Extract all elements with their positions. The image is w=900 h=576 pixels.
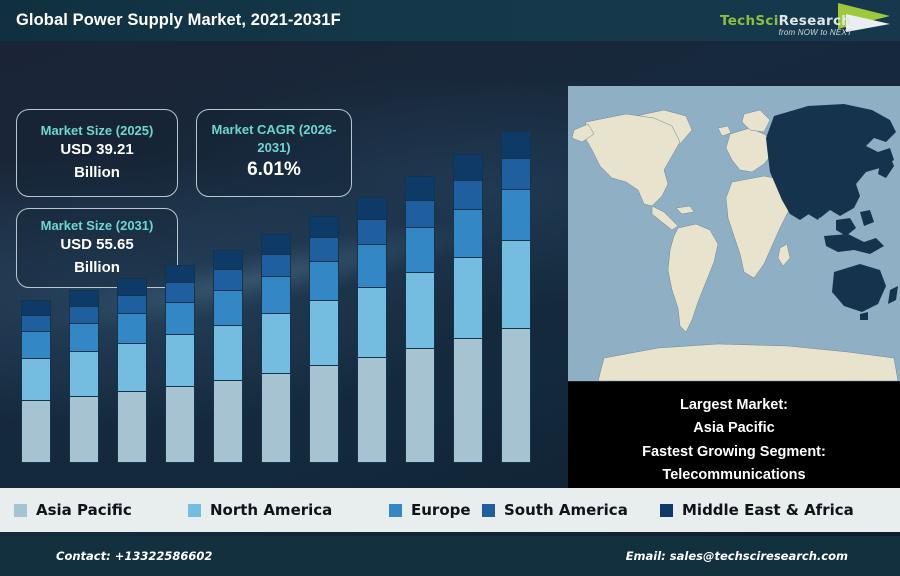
bar-segment-south-america xyxy=(261,254,291,276)
legend-item-north-america[interactable]: North America xyxy=(188,501,332,519)
bar-segment-south-america xyxy=(309,237,339,261)
bar-segment-north-america xyxy=(501,240,531,328)
bar-segment-asia-pacific xyxy=(309,365,339,463)
bar-segment-middle-east-africa xyxy=(453,154,483,180)
bar-segment-middle-east-africa xyxy=(165,265,195,283)
bar-segment-north-america xyxy=(69,351,99,396)
legend-swatch-icon xyxy=(660,504,673,517)
legend-label: Middle East & Africa xyxy=(682,501,854,519)
bar-segment-north-america xyxy=(21,358,51,401)
bar-segment-north-america xyxy=(213,325,243,380)
bar-segment-south-america xyxy=(21,315,51,331)
legend-swatch-icon xyxy=(188,504,201,517)
logo-text: TechSciResearch xyxy=(720,13,851,29)
bar-segment-middle-east-africa xyxy=(309,216,339,237)
bar-2023 xyxy=(117,278,147,463)
bar-2027F xyxy=(309,216,339,463)
legend-item-middle-east-africa[interactable]: Middle East & Africa xyxy=(660,501,854,519)
bar-segment-south-america xyxy=(165,282,195,302)
page-footer: Contact: +13322586602 Email: sales@techs… xyxy=(0,536,900,576)
bar-segment-north-america xyxy=(165,334,195,386)
bar-segment-north-america xyxy=(453,257,483,339)
bar-segment-europe xyxy=(405,227,435,272)
bar-segment-asia-pacific xyxy=(357,357,387,463)
bar-segment-middle-east-africa xyxy=(261,234,291,254)
bar-segment-asia-pacific xyxy=(213,380,243,463)
legend-label: Asia Pacific xyxy=(36,501,132,519)
world-map xyxy=(568,86,900,381)
bar-segment-south-america xyxy=(405,200,435,227)
bar-segment-asia-pacific xyxy=(261,373,291,463)
footer-contact: Contact: +13322586602 xyxy=(56,549,212,563)
market-highlights-box: Largest Market: Asia Pacific Fastest Gro… xyxy=(568,382,900,499)
bar-segment-north-america xyxy=(261,313,291,373)
bar-segment-middle-east-africa xyxy=(21,300,51,315)
legend-swatch-icon xyxy=(482,504,495,517)
bar-segment-europe xyxy=(165,302,195,334)
bar-2029F xyxy=(405,176,435,463)
legend-item-south-america[interactable]: South America xyxy=(482,501,628,519)
bar-segment-south-america xyxy=(117,295,147,313)
legend-label: North America xyxy=(210,501,332,519)
bar-segment-north-america xyxy=(405,272,435,348)
bar-segment-south-america xyxy=(453,180,483,209)
bar-2026E xyxy=(261,234,291,463)
logo-tagline: from NOW to NEXT xyxy=(779,28,852,37)
bar-segment-europe xyxy=(501,189,531,240)
bar-segment-europe xyxy=(309,261,339,300)
bar-segment-north-america xyxy=(309,300,339,365)
world-map-svg xyxy=(568,86,900,381)
bar-segment-middle-east-africa xyxy=(117,278,147,295)
bar-segment-europe xyxy=(453,209,483,257)
techsci-research-logo: TechSciResearch from NOW to NEXT xyxy=(714,2,892,40)
bar-segment-south-america xyxy=(69,306,99,323)
bar-segment-south-america xyxy=(501,158,531,188)
bar-segment-north-america xyxy=(357,287,387,357)
bar-segment-asia-pacific xyxy=(165,386,195,463)
infographic-body: Market Size (2025) USD 39.21 Billion Mar… xyxy=(0,41,900,536)
logo-text-research: Research xyxy=(779,13,852,29)
bar-2022 xyxy=(69,290,99,463)
bar-segment-south-america xyxy=(213,269,243,290)
fastest-segment-value: Telecommunications xyxy=(662,464,805,487)
footer-email: Email: sales@techsciresearch.com xyxy=(626,549,848,563)
largest-market-value: Asia Pacific xyxy=(693,417,774,440)
bar-segment-middle-east-africa xyxy=(213,250,243,269)
bar-segment-europe xyxy=(357,244,387,286)
bar-2024 xyxy=(165,265,195,463)
bar-segment-middle-east-africa xyxy=(69,290,99,305)
page-title: Global Power Supply Market, 2021-2031F xyxy=(16,11,341,30)
legend-label: Europe xyxy=(411,501,471,519)
bar-segment-middle-east-africa xyxy=(357,197,387,220)
legend-item-europe[interactable]: Europe xyxy=(389,501,471,519)
bar-segment-asia-pacific xyxy=(21,400,51,463)
bar-segment-europe xyxy=(117,313,147,343)
bar-segment-asia-pacific xyxy=(405,348,435,463)
bar-2030F xyxy=(453,154,483,463)
legend-swatch-icon xyxy=(389,504,402,517)
bar-segment-asia-pacific xyxy=(501,328,531,463)
bar-segment-south-america xyxy=(357,219,387,244)
logo-text-tech: TechSci xyxy=(720,13,779,29)
bar-segment-europe xyxy=(69,323,99,351)
bar-segment-asia-pacific xyxy=(453,338,483,463)
bar-segment-asia-pacific xyxy=(69,396,99,463)
bar-segment-europe xyxy=(261,276,291,313)
bar-segment-europe xyxy=(213,290,243,325)
bar-2028F xyxy=(357,197,387,463)
bar-segment-europe xyxy=(21,331,51,357)
logo-arrow-inner-icon xyxy=(846,14,890,32)
bar-2031F xyxy=(501,131,531,463)
legend-label: South America xyxy=(504,501,628,519)
bar-segment-asia-pacific xyxy=(117,391,147,463)
bar-segment-middle-east-africa xyxy=(405,176,435,200)
page-header: Global Power Supply Market, 2021-2031F T… xyxy=(0,0,900,41)
largest-market-label: Largest Market: xyxy=(680,394,788,417)
legend-swatch-icon xyxy=(14,504,27,517)
bar-2025 xyxy=(213,250,243,463)
fastest-segment-label: Fastest Growing Segment: xyxy=(642,441,826,464)
chart-legend: Asia PacificNorth AmericaEuropeSouth Ame… xyxy=(0,488,900,532)
legend-item-asia-pacific[interactable]: Asia Pacific xyxy=(14,501,132,519)
bar-2021 xyxy=(21,300,51,463)
stacked-bar-chart xyxy=(0,41,565,463)
bar-segment-middle-east-africa xyxy=(501,131,531,158)
bar-segment-north-america xyxy=(117,343,147,391)
